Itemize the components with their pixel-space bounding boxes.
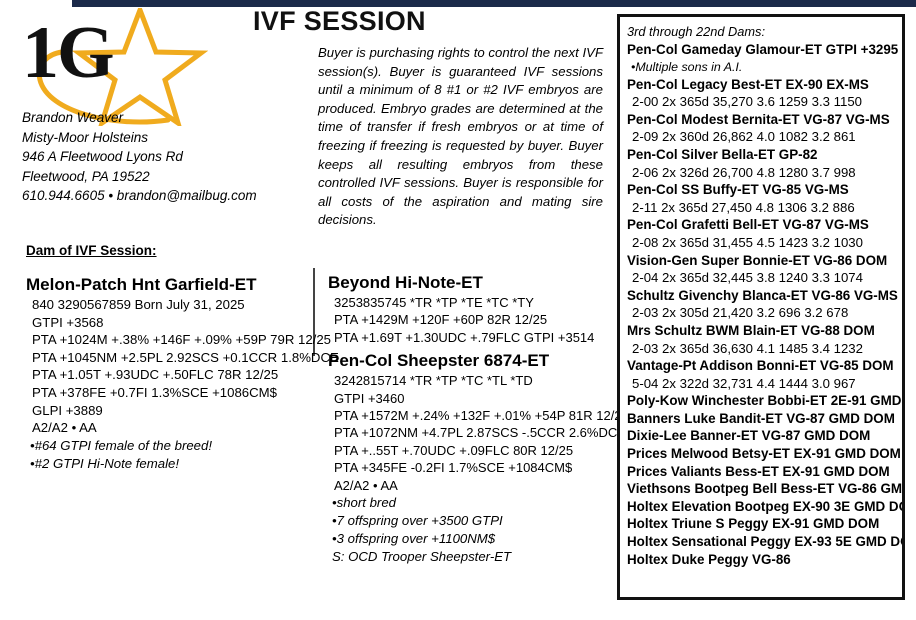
dam-data-line: PTA +1024M +.38% +146F +.09% +59P 79R 12…	[26, 331, 316, 349]
contact-name: Brandon Weaver	[22, 108, 257, 128]
dam-data-line: 840 3290567859 Born July 31, 2025	[26, 296, 316, 314]
pedigree-dam-record: 2-03 2x 305d 21,420 3.2 696 3.2 678	[627, 304, 902, 322]
pedigree-dam-name: Pen-Col Gameday Glamour-ET GTPI +3295	[627, 41, 902, 59]
pedigree-dam-name: Vision-Gen Super Bonnie-ET VG-86 DOM	[627, 252, 902, 270]
sire-bullet: •short bred	[328, 494, 618, 512]
page-title: IVF SESSION	[253, 6, 426, 37]
dam-data-line: GTPI +3568	[26, 314, 316, 332]
catalog-page: 1G Brandon Weaver Misty-Moor Holsteins 9…	[0, 0, 916, 620]
sire-bullet: S: OCD Trooper Sheepster-ET	[328, 548, 618, 566]
pedigree-dam-name: Poly-Kow Winchester Bobbi-ET 2E-91 GMD D…	[627, 392, 902, 410]
pedigree-dam-name: Viethsons Bootpeg Bell Bess-ET VG-86 GMD…	[627, 480, 902, 498]
sire-name: Pen-Col Sheepster 6874-ET	[328, 350, 618, 371]
farm-logo-block: 1G Brandon Weaver Misty-Moor Holsteins 9…	[18, 8, 288, 218]
contact-city-state-zip: Fleetwood, PA 19522	[22, 167, 257, 187]
dam-data-line: GLPI +3889	[26, 402, 316, 420]
sire-bullet: •3 offspring over +1100NM$	[328, 530, 618, 548]
sire-data-line: PTA +..55T +.70UDC +.09FLC 80R 12/25	[328, 442, 618, 459]
header-bar	[72, 0, 916, 7]
pedigree-dam-name: Holtex Elevation Bootpeg EX-90 3E GMD DO…	[627, 498, 902, 516]
pedigree-dam-name: Pen-Col Silver Bella-ET GP-82	[627, 146, 902, 164]
pedigree-dam-name: Pen-Col SS Buffy-ET VG-85 VG-MS	[627, 181, 902, 199]
pedigree-heading: 3rd through 22nd Dams:	[627, 23, 902, 40]
sire-data-line: 3242815714 *TR *TP *TC *TL *TD	[328, 372, 618, 389]
pedigree-dam-note: •Multiple sons in A.I.	[627, 59, 902, 76]
sire-data-line: A2/A2 • AA	[328, 477, 618, 494]
pedigree-box: 3rd through 22nd Dams: Pen-Col Gameday G…	[617, 14, 905, 600]
pedigree-dam-name: Prices Valiants Bess-ET EX-91 GMD DOM	[627, 463, 902, 481]
pedigree-dam-record: 2-04 2x 365d 32,445 3.8 1240 3.3 1074	[627, 269, 902, 287]
sire-data-line: PTA +1429M +120F +60P 82R 12/25	[328, 311, 618, 328]
pedigree-dam-name: Holtex Triune S Peggy EX-91 GMD DOM	[627, 515, 902, 533]
pedigree-dam-name: Mrs Schultz BWM Blain-ET VG-88 DOM	[627, 322, 902, 340]
pedigree-dam-record: 5-04 2x 322d 32,731 4.4 1444 3.0 967	[627, 375, 902, 393]
logo-mark-text: 1G	[22, 16, 113, 90]
sire-section: Beyond Hi-Note-ET3253835745 *TR *TP *TE …	[328, 268, 618, 566]
pedigree-dam-name: Prices Melwood Betsy-ET EX-91 GMD DOM	[627, 445, 902, 463]
sire-data-line: PTA +1572M +.24% +132F +.01% +54P 81R 12…	[328, 407, 618, 424]
pedigree-dam-record: 2-03 2x 365d 36,630 4.1 1485 3.4 1232	[627, 340, 902, 358]
dam-bullet: •#2 GTPI Hi-Note female!	[26, 455, 316, 473]
contact-address: 946 A Fleetwood Lyons Rd	[22, 147, 257, 167]
pedigree-dam-record: 2-11 2x 365d 27,450 4.8 1306 3.2 886	[627, 199, 902, 217]
pedigree-dam-name: Holtex Sensational Peggy EX-93 5E GMD DO…	[627, 533, 902, 551]
pedigree-dam-name: Pen-Col Modest Bernita-ET VG-87 VG-MS	[627, 111, 902, 129]
dam-data-line: PTA +1045NM +2.5PL 2.92SCS +0.1CCR 1.8%D…	[26, 349, 316, 367]
dam-section-label: Dam of IVF Session:	[26, 243, 316, 258]
pedigree-dam-name: Dixie-Lee Banner-ET VG-87 GMD DOM	[627, 427, 902, 445]
sire-name: Beyond Hi-Note-ET	[328, 272, 618, 293]
dam-name: Melon-Patch Hnt Garfield-ET	[26, 274, 316, 295]
pedigree-dam-record: 2-08 2x 365d 31,455 4.5 1423 3.2 1030	[627, 234, 902, 252]
sire-data-line: PTA +1072NM +4.7PL 2.87SCS -.5CCR 2.6%DC…	[328, 424, 618, 441]
intro-paragraph: Buyer is purchasing rights to control th…	[318, 44, 603, 230]
pedigree-dam-name: Banners Luke Bandit-ET VG-87 GMD DOM	[627, 410, 902, 428]
pedigree-dam-name: Pen-Col Legacy Best-ET EX-90 EX-MS	[627, 76, 902, 94]
dam-data-line: PTA +378FE +0.7FI 1.3%SCE +1086CM$	[26, 384, 316, 402]
sire-data-line: GTPI +3460	[328, 390, 618, 407]
contact-farm: Misty-Moor Holsteins	[22, 128, 257, 148]
dam-data-lines: 840 3290567859 Born July 31, 2025GTPI +3…	[26, 296, 316, 437]
dam-data-line: PTA +1.05T +.93UDC +.50FLC 78R 12/25	[26, 366, 316, 384]
dam-bullet: •#64 GTPI female of the breed!	[26, 437, 316, 455]
pedigree-dam-name: Pen-Col Grafetti Bell-ET VG-87 VG-MS	[627, 216, 902, 234]
sire-bullet: •7 offspring over +3500 GTPI	[328, 512, 618, 530]
pedigree-entries: Pen-Col Gameday Glamour-ET GTPI +3295•Mu…	[627, 41, 902, 568]
sire-data-line: 3253835745 *TR *TP *TE *TC *TY	[328, 294, 618, 311]
pedigree-dam-name: Holtex Duke Peggy VG-86	[627, 551, 902, 569]
dam-data-line: A2/A2 • AA	[26, 419, 316, 437]
sire-data-line: PTA +1.69T +1.30UDC +.79FLC GTPI +3514	[328, 329, 618, 346]
contact-phone-email: 610.944.6605 • brandon@mailbug.com	[22, 186, 257, 206]
contact-info: Brandon Weaver Misty-Moor Holsteins 946 …	[22, 108, 257, 206]
pedigree-dam-name: Schultz Givenchy Blanca-ET VG-86 VG-MS	[627, 287, 902, 305]
sire-data-line: PTA +345FE -0.2FI 1.7%SCE +1084CM$	[328, 459, 618, 476]
pedigree-dam-record: 2-06 2x 326d 26,700 4.8 1280 3.7 998	[627, 164, 902, 182]
pedigree-dam-record: 2-00 2x 365d 35,270 3.6 1259 3.3 1150	[627, 93, 902, 111]
dam-section: Dam of IVF Session: Melon-Patch Hnt Garf…	[26, 243, 316, 473]
dam-bullets: •#64 GTPI female of the breed!•#2 GTPI H…	[26, 437, 316, 473]
pedigree-dam-name: Vantage-Pt Addison Bonni-ET VG-85 DOM	[627, 357, 902, 375]
pedigree-dam-record: 2-09 2x 360d 26,862 4.0 1082 3.2 861	[627, 128, 902, 146]
